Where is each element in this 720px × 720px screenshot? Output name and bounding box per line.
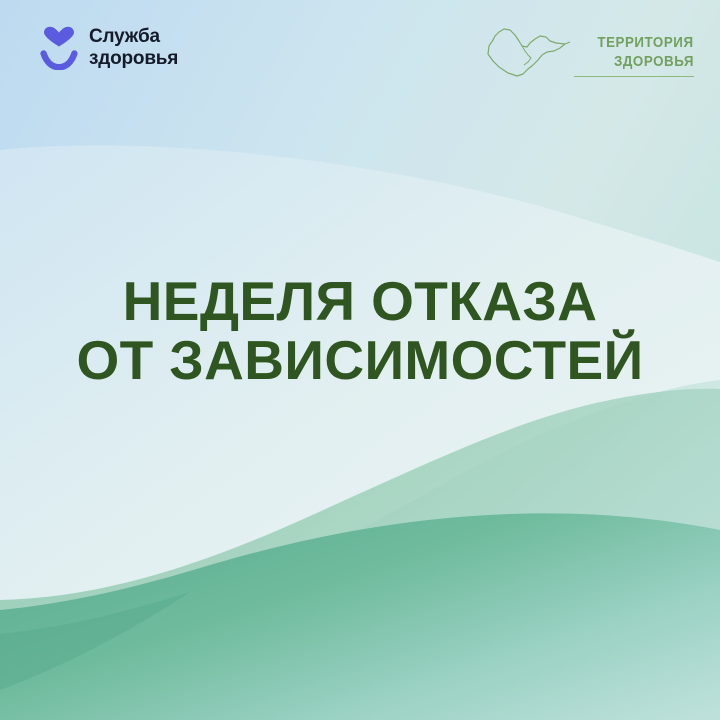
poster-headline: НЕДЕЛЯ ОТКАЗА ОТ ЗАВИСИМОСТЕЙ bbox=[0, 272, 720, 391]
poster-canvas: Служба здоровья ТЕРРИТОРИЯ ЗДОРОВЬЯ НЕДЕ… bbox=[0, 0, 720, 720]
brand-territoriya-wordmark: ТЕРРИТОРИЯ ЗДОРОВЬЯ bbox=[574, 22, 694, 77]
region-map-outline-icon bbox=[484, 24, 570, 80]
brand-sluzhba-line2: здоровья bbox=[89, 48, 178, 70]
headline-line-2: ОТ ЗАВИСИМОСТЕЙ bbox=[22, 331, 698, 390]
brand-sluzhba-zdorovya[interactable]: Служба здоровья bbox=[40, 26, 178, 70]
brand-territoriya-line2: ЗДОРОВЬЯ bbox=[614, 53, 694, 72]
headline-line-1: НЕДЕЛЯ ОТКАЗА bbox=[22, 272, 698, 331]
brand-sluzhba-line1: Служба bbox=[89, 26, 178, 48]
heart-smile-icon bbox=[40, 26, 78, 70]
brand-territoriya-underline bbox=[574, 76, 694, 77]
brand-territoriya-zdorovya[interactable]: ТЕРРИТОРИЯ ЗДОРОВЬЯ bbox=[484, 22, 694, 80]
brand-sluzhba-wordmark: Служба здоровья bbox=[89, 26, 178, 69]
brand-territoriya-line1: ТЕРРИТОРИЯ bbox=[598, 34, 694, 53]
